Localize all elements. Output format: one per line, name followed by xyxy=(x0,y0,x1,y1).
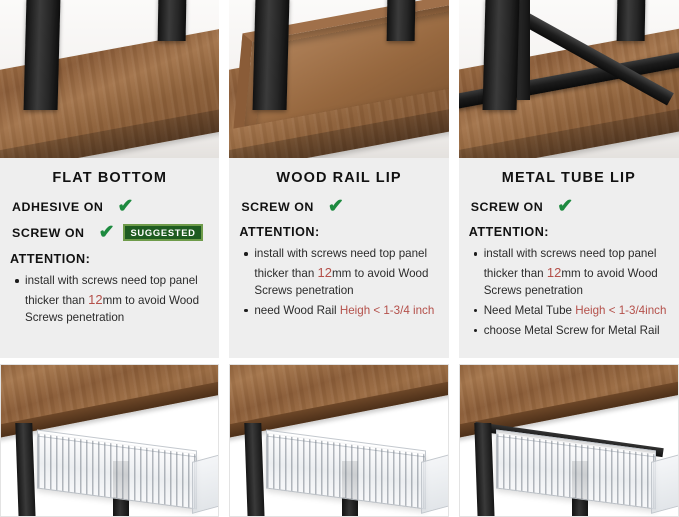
desk-leg-front xyxy=(482,0,519,110)
note-item: install with screws need top panel thick… xyxy=(243,245,440,300)
panel-title: WOOD RAIL LIP xyxy=(237,170,440,186)
drawer-side-panel xyxy=(651,454,679,514)
desk-leg-left xyxy=(15,423,35,517)
photo-drawer-installed-wood-rail xyxy=(229,364,448,517)
method-label: SCREW ON xyxy=(12,226,85,240)
desk-leg-front xyxy=(253,0,290,110)
attention-label: ATTENTION: xyxy=(239,225,440,239)
method-row-screw: SCREW ON ✔ xyxy=(471,197,671,216)
method-row-adhesive: ADHESIVE ON ✔ xyxy=(12,197,211,216)
note-text: Need Metal Tube xyxy=(484,304,576,317)
note-item: Need Metal Tube Heigh < 1-3/4inch xyxy=(473,302,671,320)
column-metal-tube-lip: METAL TUBE LIP SCREW ON ✔ ATTENTION: ins… xyxy=(459,0,679,517)
panel-title: METAL TUBE LIP xyxy=(467,170,671,186)
panel-wood-rail-lip: WOOD RAIL LIP SCREW ON ✔ ATTENTION: inst… xyxy=(229,158,448,358)
check-icon: ✔ xyxy=(117,197,133,216)
photo-metal-tube-lip-underside xyxy=(459,0,679,158)
photo-drawer-installed-flat-bottom xyxy=(0,364,219,517)
suggested-badge: SUGGESTED xyxy=(123,224,202,241)
method-row-screw: SCREW ON ✔ xyxy=(241,197,440,216)
drawer-side-panel xyxy=(421,454,448,514)
note-item: install with screws need top panel thick… xyxy=(14,272,211,327)
note-highlight: 12 xyxy=(88,292,102,307)
note-highlight: 12 xyxy=(318,265,332,280)
installation-compatibility-infographic: FLAT BOTTOM ADHESIVE ON ✔ SCREW ON ✔ SUG… xyxy=(0,0,679,517)
note-highlight: Heigh < 1-3/4inch xyxy=(575,304,666,317)
drawer-side-panel xyxy=(192,454,219,514)
desk-leg-front xyxy=(24,0,61,110)
photo-wood-rail-lip-underside xyxy=(229,0,448,158)
check-icon: ✔ xyxy=(557,197,573,216)
attention-label: ATTENTION: xyxy=(469,225,671,239)
desk-leg-rear xyxy=(387,0,416,41)
note-item: install with screws need top panel thick… xyxy=(473,245,671,300)
note-highlight: Heigh < 1-3/4 inch xyxy=(340,304,434,317)
method-label: SCREW ON xyxy=(241,200,314,214)
note-highlight: 12 xyxy=(547,265,561,280)
note-text: choose Metal Screw for Metal Rail xyxy=(484,324,660,337)
check-icon: ✔ xyxy=(99,223,115,242)
check-icon: ✔ xyxy=(328,197,344,216)
desk-leg-rear xyxy=(616,0,645,41)
method-row-screw: SCREW ON ✔ SUGGESTED xyxy=(12,223,211,242)
panel-metal-tube-lip: METAL TUBE LIP SCREW ON ✔ ATTENTION: ins… xyxy=(459,158,679,358)
column-wood-rail-lip: WOOD RAIL LIP SCREW ON ✔ ATTENTION: inst… xyxy=(229,0,448,517)
desk-leg-left xyxy=(474,423,494,517)
panel-flat-bottom: FLAT BOTTOM ADHESIVE ON ✔ SCREW ON ✔ SUG… xyxy=(0,158,219,358)
column-flat-bottom: FLAT BOTTOM ADHESIVE ON ✔ SCREW ON ✔ SUG… xyxy=(0,0,219,517)
note-item: need Wood Rail Heigh < 1-3/4 inch xyxy=(243,302,440,320)
photo-flat-bottom-underside xyxy=(0,0,219,158)
notes-list: install with screws need top panel thick… xyxy=(243,245,440,320)
notes-list: install with screws need top panel thick… xyxy=(473,245,671,339)
photo-drawer-installed-metal-tube xyxy=(459,364,679,517)
desk-leg-rear xyxy=(158,0,187,41)
method-label: SCREW ON xyxy=(471,200,544,214)
panel-title: FLAT BOTTOM xyxy=(8,170,211,186)
note-text: need Wood Rail xyxy=(254,304,340,317)
method-label: ADHESIVE ON xyxy=(12,200,103,214)
note-item: choose Metal Screw for Metal Rail xyxy=(473,322,671,340)
attention-label: ATTENTION: xyxy=(10,252,211,266)
notes-list: install with screws need top panel thick… xyxy=(14,272,211,327)
